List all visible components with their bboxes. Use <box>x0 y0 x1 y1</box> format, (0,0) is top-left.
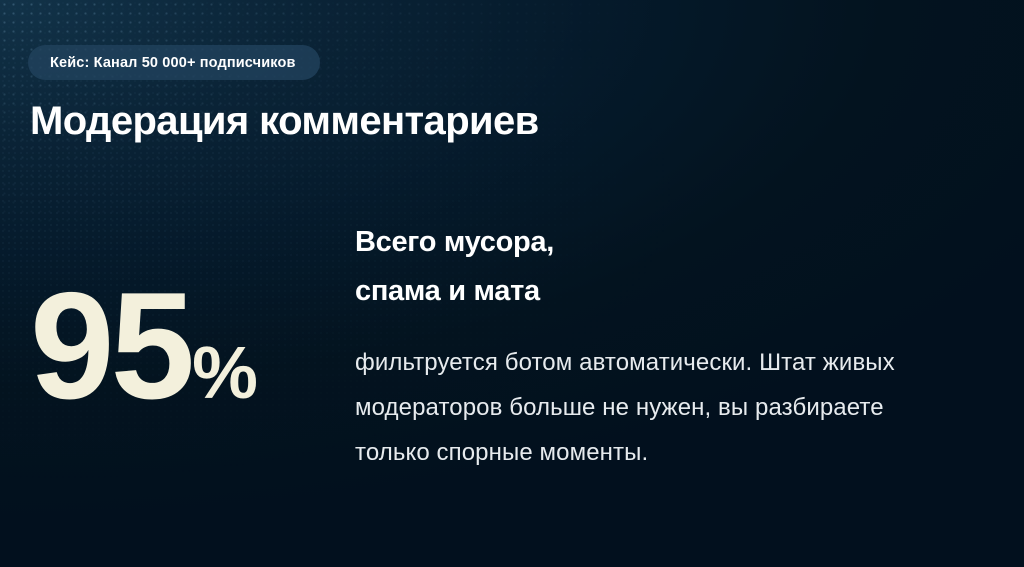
lede-line-1: Всего мусора, <box>355 226 554 258</box>
stat-block: 95 % <box>0 218 355 416</box>
text-block: Всего мусора, спама и мата фильтруется б… <box>355 218 1024 475</box>
body-copy: фильтруется ботом автоматически. Штат жи… <box>355 340 925 475</box>
page-title: Модерация комментариев <box>30 98 539 144</box>
content-row: 95 % Всего мусора, спама и мата фильтруе… <box>0 218 1024 475</box>
stat-value: 95 <box>30 276 191 416</box>
lede-line-2: спама и мата <box>355 275 540 307</box>
stat-unit-percent: % <box>192 336 256 410</box>
case-badge-label: Кейс: Канал 50 000+ подписчиков <box>50 55 296 71</box>
lede-heading: Всего мусора, спама и мата <box>355 218 964 316</box>
case-badge: Кейс: Канал 50 000+ подписчиков <box>28 45 320 80</box>
slide-root: Кейс: Канал 50 000+ подписчиков Модераци… <box>0 0 1024 567</box>
